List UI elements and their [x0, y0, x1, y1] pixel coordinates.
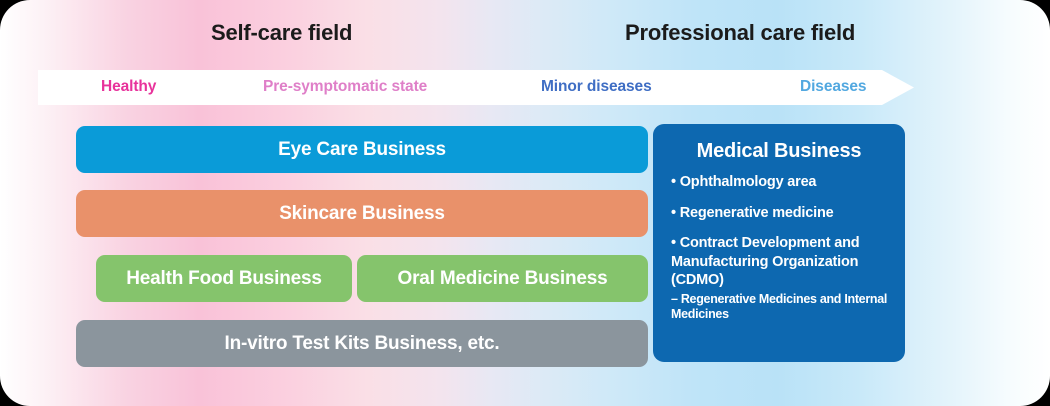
business-bar-oral-medicine: Oral Medicine Business	[357, 255, 648, 302]
self-care-field-title: Self-care field	[211, 20, 352, 46]
medical-item-regenerative-medicine: • Regenerative medicine	[667, 204, 891, 223]
business-bar-skincare: Skincare Business	[76, 190, 648, 237]
business-portfolio-diagram: Self-care field Professional care field …	[0, 0, 1050, 406]
disease-progression-arrow	[38, 70, 914, 105]
stage-label-minor-diseases: Minor diseases	[541, 78, 652, 96]
business-bar-in-vitro-test-kits: In-vitro Test Kits Business, etc.	[76, 320, 648, 367]
medical-business-title: Medical Business	[667, 140, 891, 163]
professional-care-field-title: Professional care field	[625, 20, 855, 46]
medical-item-cdmo: • Contract Development and Manufacturing…	[667, 234, 891, 290]
medical-item-cdmo-subnote: – Regenerative Medicines and Internal Me…	[667, 292, 891, 323]
medical-business-panel: Medical Business • Ophthalmology area • …	[653, 124, 905, 362]
business-bar-eye-care: Eye Care Business	[76, 126, 648, 173]
business-bar-health-food: Health Food Business	[96, 255, 352, 302]
stage-label-healthy: Healthy	[101, 78, 156, 96]
medical-item-ophthalmology: • Ophthalmology area	[667, 173, 891, 192]
stage-label-pre-symptomatic: Pre-symptomatic state	[263, 78, 427, 96]
stage-label-diseases: Diseases	[800, 78, 866, 96]
